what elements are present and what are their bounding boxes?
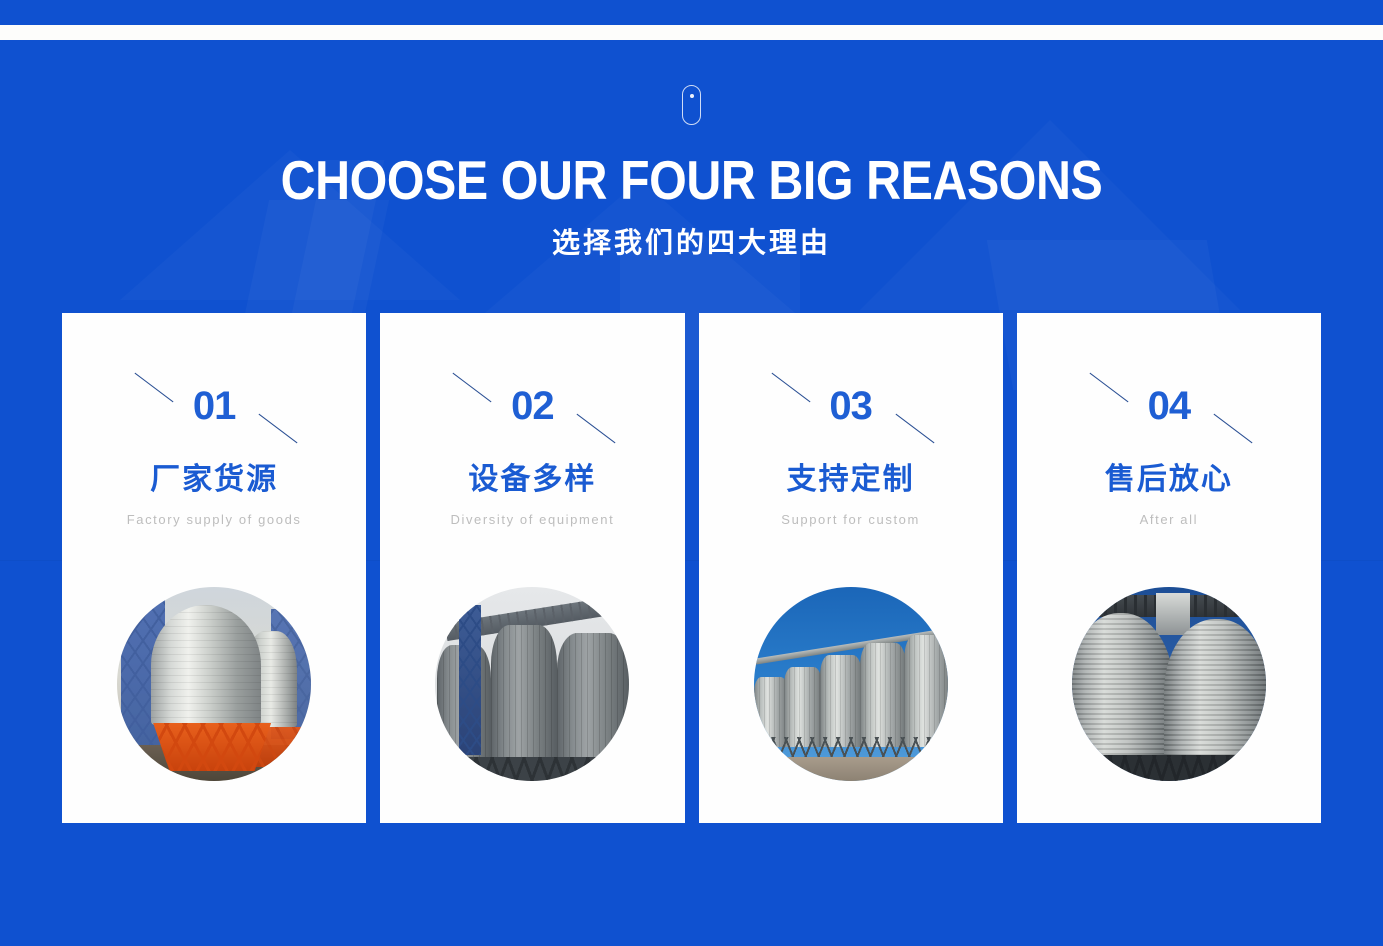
diagonal-accent-line-top-icon: [771, 373, 810, 403]
card-title-english: Support for custom: [781, 510, 920, 530]
reason-card-03[interactable]: 03 支持定制 Support for custom: [699, 313, 1003, 823]
page-title-chinese: 选择我们的四大理由: [0, 228, 1383, 259]
diagonal-accent-line-top-icon: [1089, 373, 1128, 403]
card-photo-circle: [754, 587, 948, 781]
card-number-wrap: 03: [761, 381, 941, 431]
reason-card-01[interactable]: 01 厂家货源 Factory supply of goods: [62, 313, 366, 823]
scroll-mouse-dot: [690, 94, 694, 98]
diagonal-accent-line-bottom-icon: [259, 414, 298, 444]
card-title-english: Diversity of equipment: [450, 510, 614, 530]
card-number: 04: [1148, 386, 1191, 426]
card-number: 02: [511, 386, 554, 426]
diagonal-accent-line-bottom-icon: [577, 414, 616, 444]
card-title-chinese: 售后放心: [1105, 463, 1233, 498]
reason-card-04[interactable]: 04 售后放心 After all: [1017, 313, 1321, 823]
reasons-card-grid: 01 厂家货源 Factory supply of goods 02: [62, 313, 1321, 823]
card-number: 01: [193, 386, 236, 426]
card-title-chinese: 支持定制: [787, 463, 915, 498]
diagonal-accent-line-bottom-icon: [1213, 414, 1252, 444]
card-number-wrap: 04: [1079, 381, 1259, 431]
diagonal-accent-line-bottom-icon: [895, 414, 934, 444]
card-number: 03: [829, 386, 872, 426]
card-title-english: After all: [1140, 510, 1198, 530]
diagonal-accent-line-top-icon: [135, 373, 174, 403]
card-title-chinese: 设备多样: [468, 463, 596, 498]
section-header: CHOOSE OUR FOUR BIG REASONS 选择我们的四大理由: [0, 0, 1383, 259]
card-photo-circle: [117, 587, 311, 781]
page-title-english: CHOOSE OUR FOUR BIG REASONS: [83, 153, 1300, 208]
card-number-wrap: 02: [442, 381, 622, 431]
card-photo-circle: [435, 587, 629, 781]
card-title-english: Factory supply of goods: [127, 510, 302, 530]
card-photo-circle: [1072, 587, 1266, 781]
card-title-chinese: 厂家货源: [150, 463, 278, 498]
card-number-wrap: 01: [124, 381, 304, 431]
reason-card-02[interactable]: 02 设备多样 Diversity of equipment: [380, 313, 684, 823]
scroll-mouse-icon: [682, 85, 701, 125]
diagonal-accent-line-top-icon: [453, 373, 492, 403]
